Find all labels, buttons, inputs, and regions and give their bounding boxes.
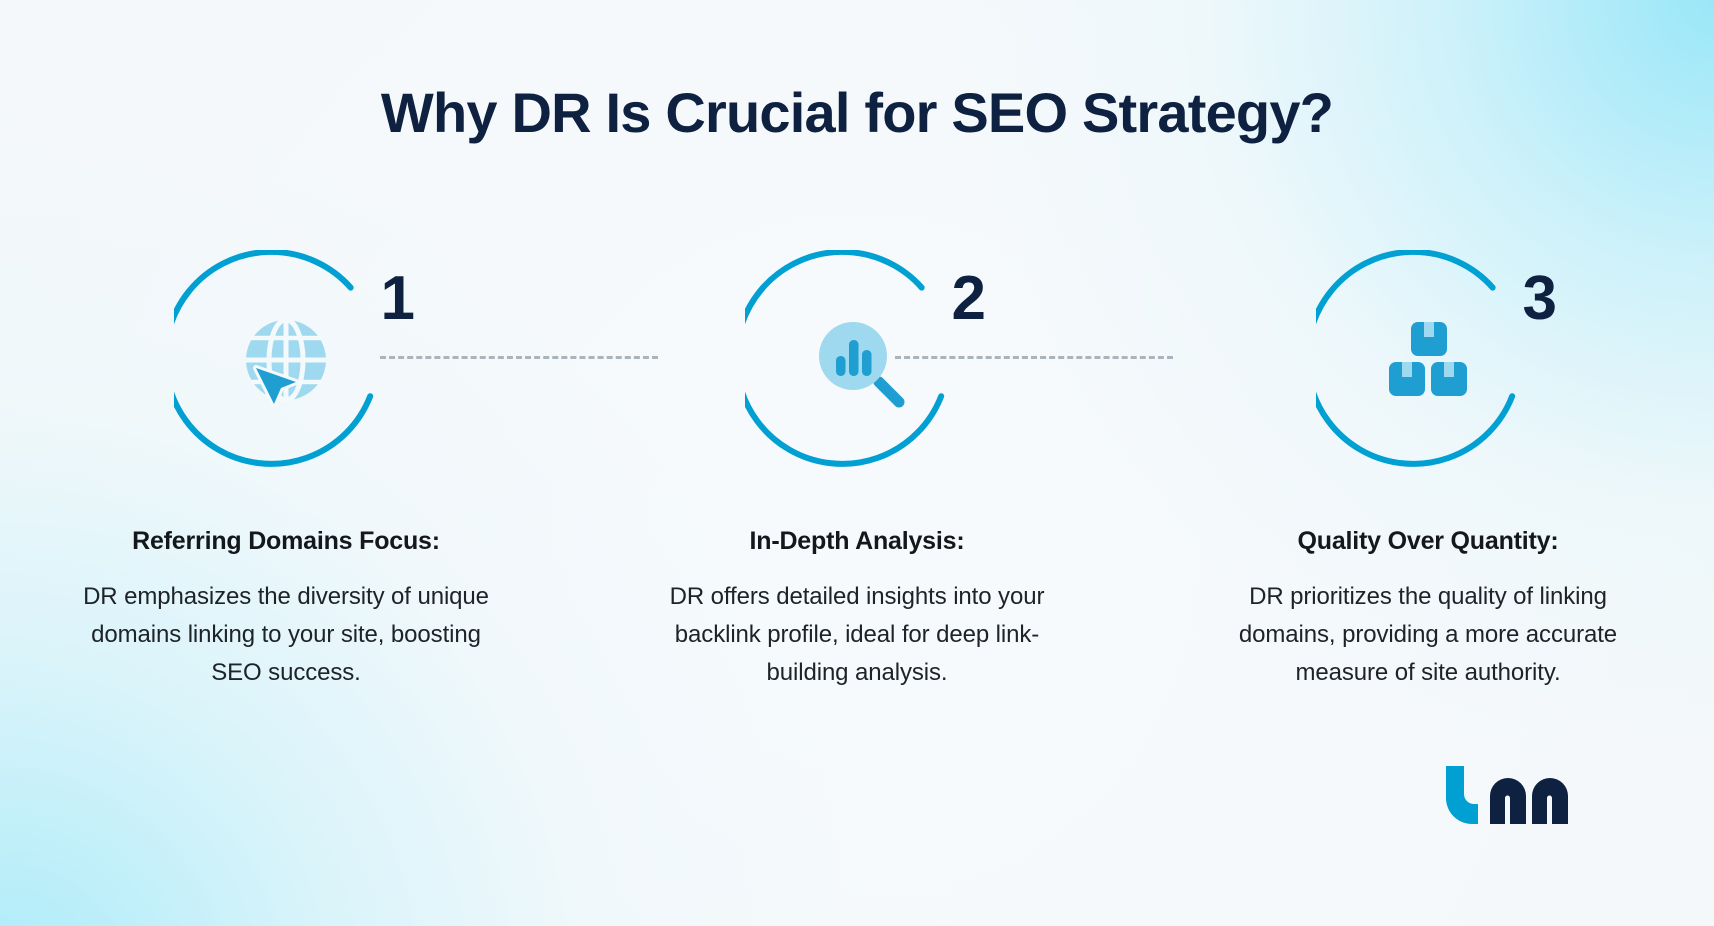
step-text-2: In-Depth Analysis: DR offers detailed in… xyxy=(642,526,1072,692)
step-number-3: 3 xyxy=(1523,268,1556,330)
step-body-3: DR prioritizes the quality of linking do… xyxy=(1213,578,1643,692)
step-body-1: DR emphasizes the diversity of unique do… xyxy=(71,578,501,692)
connector-step-2-to-3 xyxy=(895,356,1173,362)
step-text-1: Referring Domains Focus: DR emphasizes t… xyxy=(71,526,501,692)
step-column-3: 3 Quality Over Quantity: DR prioritizes … xyxy=(1143,238,1714,692)
page-title: Why DR Is Crucial for SEO Strategy? xyxy=(0,82,1714,144)
globe-cursor-icon xyxy=(234,308,338,416)
magnifier-bar-chart-icon xyxy=(805,308,909,416)
stacked-boxes-icon xyxy=(1376,308,1480,416)
step-column-1: 1 Referring Domains Focus: DR emphasizes… xyxy=(1,238,572,692)
step-column-2: 2 In-Depth Analysis: DR offers detailed … xyxy=(572,238,1143,692)
step-heading-1: Referring Domains Focus: xyxy=(71,526,501,556)
step-circle-3: 3 xyxy=(1278,238,1578,484)
connector-step-1-to-2 xyxy=(380,356,658,362)
steps-row: 1 Referring Domains Focus: DR emphasizes… xyxy=(0,238,1714,692)
step-text-3: Quality Over Quantity: DR prioritizes th… xyxy=(1213,526,1643,692)
infographic-canvas: Why DR Is Crucial for SEO Strategy? xyxy=(0,0,1714,926)
step-heading-3: Quality Over Quantity: xyxy=(1213,526,1643,556)
step-body-2: DR offers detailed insights into your ba… xyxy=(642,578,1072,692)
step-heading-2: In-Depth Analysis: xyxy=(642,526,1072,556)
step-number-1: 1 xyxy=(381,268,414,330)
brand-logo xyxy=(1438,762,1586,838)
step-number-2: 2 xyxy=(952,268,985,330)
